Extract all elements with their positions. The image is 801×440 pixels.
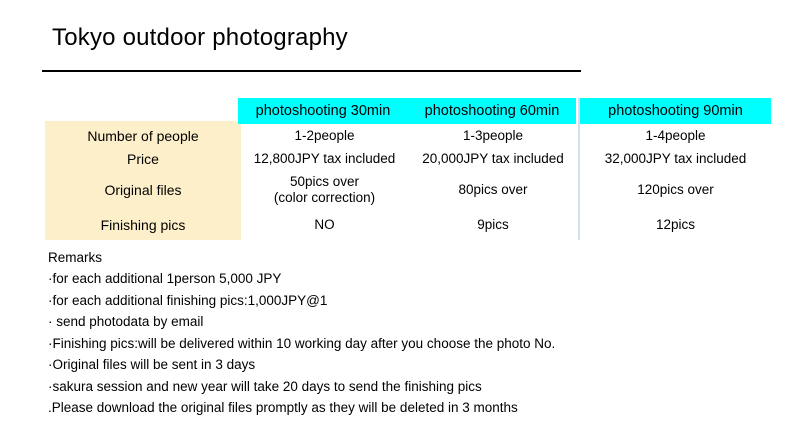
row-label-original-files: Original files: [45, 170, 241, 210]
table-cell: 32,000JPY tax included: [580, 147, 771, 170]
remark-line: ·sakura session and new year will take 2…: [48, 376, 768, 398]
cell-text: 9pics: [477, 217, 509, 233]
table-cell: 20,000JPY tax included: [408, 147, 578, 170]
pricing-table: photoshooting 30min photoshooting 60min …: [45, 98, 771, 240]
table-row: Price 12,800JPY tax included 20,000JPY t…: [45, 147, 771, 170]
table-cell: 12,800JPY tax included: [241, 147, 408, 170]
table-row: Number of people 1-2people 1-3people 1-4…: [45, 125, 771, 147]
row-label-number-of-people: Number of people: [45, 125, 241, 147]
title-underline-rule: [42, 70, 581, 72]
table-row: Finishing pics NO 9pics 12pics: [45, 210, 771, 240]
row-label-price: Price: [45, 147, 241, 170]
table-row: Original files 50pics over (color correc…: [45, 170, 771, 210]
table-cell: 1-4people: [580, 125, 771, 147]
table-cell: 120pics over: [580, 170, 771, 210]
cell-text: 20,000JPY tax included: [422, 151, 564, 167]
cell-text: 1-3people: [463, 128, 523, 144]
cell-text: 1-2people: [294, 128, 354, 144]
cell-text: NO: [314, 217, 334, 233]
table-cell: 50pics over (color correction): [241, 170, 408, 210]
cell-text: 12,800JPY tax included: [254, 151, 396, 167]
cell-text: 1-4people: [645, 128, 705, 144]
page-title: Tokyo outdoor photography: [52, 24, 348, 52]
table-cell: 1-3people: [408, 125, 578, 147]
table-header-60min: photoshooting 60min: [408, 98, 576, 124]
table-header-30min: photoshooting 30min: [238, 98, 408, 124]
table-cell: 9pics: [408, 210, 578, 240]
remark-line: · send photodata by email: [48, 311, 768, 333]
table-header-90min: photoshooting 90min: [580, 98, 771, 124]
cell-text: 32,000JPY tax included: [605, 151, 747, 167]
remark-line: ·for each additional 1person 5,000 JPY: [48, 268, 768, 290]
cell-text: 120pics over: [637, 182, 714, 198]
table-cell: NO: [241, 210, 408, 240]
cell-text: 12pics: [656, 217, 695, 233]
remarks-heading: Remarks: [48, 247, 768, 268]
remark-line: .Please download the original files prom…: [48, 397, 768, 419]
remarks-section: Remarks ·for each additional 1person 5,0…: [48, 247, 768, 419]
remark-line: ·Original files will be sent in 3 days: [48, 354, 768, 376]
table-cell: 80pics over: [408, 170, 578, 210]
row-label-finishing-pics: Finishing pics: [45, 210, 241, 240]
cell-text: 80pics over: [458, 182, 527, 198]
cell-subtext: (color correction): [274, 190, 375, 206]
cell-text: 50pics over: [290, 174, 359, 190]
remark-line: ·Finishing pics:will be delivered within…: [48, 333, 768, 355]
table-cell: 1-2people: [241, 125, 408, 147]
table-cell: 12pics: [580, 210, 771, 240]
remark-line: ·for each additional finishing pics:1,00…: [48, 290, 768, 312]
